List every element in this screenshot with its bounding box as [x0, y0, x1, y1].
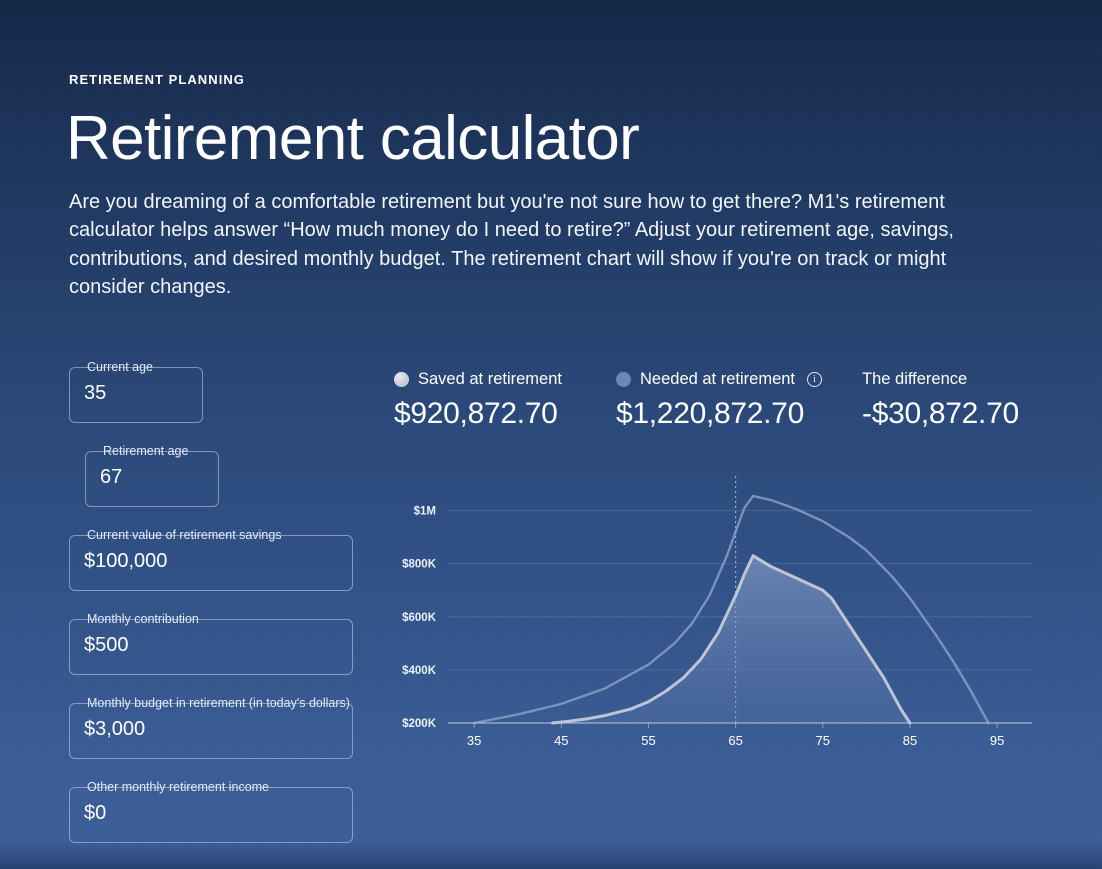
field-retirement-age[interactable]: Retirement age 67 — [85, 451, 219, 507]
y-tick-label: $800K — [402, 559, 437, 571]
field-label-monthly-contribution: Monthly contribution — [82, 612, 204, 626]
needed-dot-icon — [616, 372, 631, 387]
field-label-retirement-age: Retirement age — [98, 444, 193, 458]
field-value-other-income[interactable]: $0 — [84, 802, 338, 825]
eyebrow-label: RETIREMENT PLANNING — [69, 72, 245, 87]
chart-x-axis-labels: 35455565758595 — [467, 733, 1004, 748]
stat-saved-at-retirement: Saved at retirement $920,872.70 — [394, 368, 562, 431]
intro-paragraph: Are you dreaming of a comfortable retire… — [69, 188, 981, 302]
field-value-retirement-age[interactable]: 67 — [100, 466, 204, 489]
field-value-current-savings[interactable]: $100,000 — [84, 550, 338, 573]
field-label-other-income: Other monthly retirement income — [82, 780, 274, 794]
y-tick-label: $400K — [402, 665, 437, 677]
retirement-chart: $200K$400K$600K$800K$1M 35455565758595 — [390, 470, 1040, 765]
field-monthly-contribution[interactable]: Monthly contribution $500 — [69, 619, 353, 675]
x-tick-label: 85 — [903, 733, 917, 748]
page-root: RETIREMENT PLANNING Retirement calculato… — [0, 0, 1102, 869]
stat-amount-saved: $920,872.70 — [394, 397, 562, 431]
x-tick-label: 65 — [728, 733, 742, 748]
info-icon[interactable]: i — [807, 372, 822, 387]
x-tick-label: 75 — [816, 733, 830, 748]
stat-amount-difference: -$30,872.70 — [862, 397, 1019, 431]
chart-series-group — [474, 496, 988, 723]
calculator-form: Current age 35 Retirement age 67 Current… — [69, 367, 353, 869]
stat-label-saved: Saved at retirement — [418, 370, 562, 389]
y-tick-label: $1M — [414, 506, 436, 518]
stat-label-difference: The difference — [862, 370, 967, 389]
chart-x-axis — [448, 723, 1032, 728]
chart-y-axis-labels: $200K$400K$600K$800K$1M — [402, 506, 437, 730]
retirement-chart-svg: $200K$400K$600K$800K$1M 35455565758595 — [390, 470, 1040, 765]
field-monthly-budget[interactable]: Monthly budget in retirement (in today's… — [69, 703, 353, 759]
field-other-income[interactable]: Other monthly retirement income $0 — [69, 787, 353, 843]
x-tick-label: 95 — [990, 733, 1004, 748]
field-current-age[interactable]: Current age 35 — [69, 367, 203, 423]
page-title: Retirement calculator — [66, 103, 639, 175]
x-tick-label: 35 — [467, 733, 481, 748]
chart-area-saved-at-retirement — [553, 556, 910, 723]
field-label-current-savings: Current value of retirement savings — [82, 528, 287, 542]
field-value-current-age[interactable]: 35 — [84, 382, 188, 405]
stat-needed-at-retirement: Needed at retirement i $1,220,872.70 — [616, 368, 822, 431]
y-tick-label: $600K — [402, 612, 437, 624]
field-value-monthly-budget[interactable]: $3,000 — [84, 718, 338, 741]
stat-the-difference: The difference -$30,872.70 — [862, 368, 1019, 431]
field-value-monthly-contribution[interactable]: $500 — [84, 634, 338, 657]
field-current-savings[interactable]: Current value of retirement savings $100… — [69, 535, 353, 591]
saved-dot-icon — [394, 372, 409, 387]
stat-amount-needed: $1,220,872.70 — [616, 397, 822, 431]
field-label-monthly-budget: Monthly budget in retirement (in today's… — [82, 696, 355, 710]
field-label-current-age: Current age — [82, 360, 158, 374]
y-tick-label: $200K — [402, 718, 437, 730]
x-tick-label: 55 — [641, 733, 655, 748]
x-tick-label: 45 — [554, 733, 568, 748]
stat-label-needed: Needed at retirement — [640, 370, 795, 389]
